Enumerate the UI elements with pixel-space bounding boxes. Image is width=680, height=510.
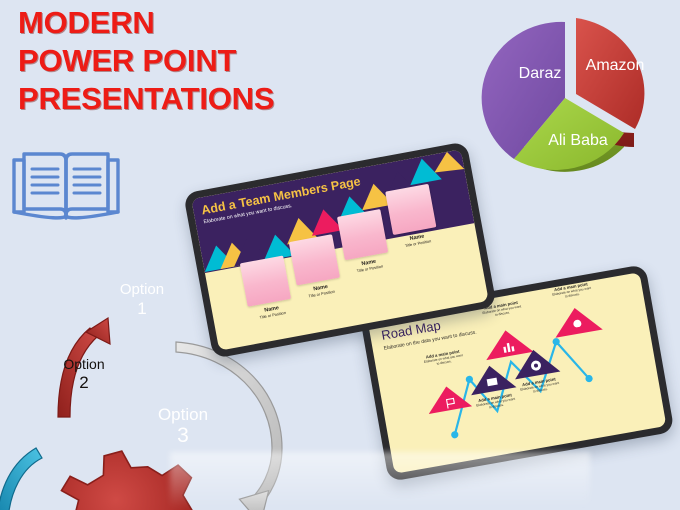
open-book-icon (10, 136, 122, 232)
pie-label-amazon: Amazon (586, 57, 645, 74)
member-photo-4[interactable] (385, 184, 436, 235)
member-photo-3[interactable] (337, 209, 388, 260)
red-curved-arrow (58, 318, 110, 417)
pie-label-aliBaba: Ali Baba (548, 132, 608, 149)
member-photo-1[interactable] (240, 255, 291, 306)
cyan-curved-arrow (0, 448, 42, 510)
pie-chart: Daraz Amazon Ali Baba (452, 2, 678, 192)
title-line-3: PRESENTATIONS (18, 80, 368, 118)
title-line-1: MODERN (18, 4, 368, 42)
member-photo-2[interactable] (289, 234, 340, 285)
title-line-2: POWER POINT (18, 42, 368, 80)
poster-canvas: MODERN POWER POINT PRESENTATIONS (0, 0, 680, 510)
road-map-marker-5[interactable] (551, 304, 603, 338)
road-map-dot-start (451, 431, 459, 439)
page-title: MODERN POWER POINT PRESENTATIONS (18, 4, 368, 117)
pie-label-daraz: Daraz (519, 65, 562, 82)
gear-option-1[interactable] (26, 437, 229, 510)
road-map-marker-3[interactable] (482, 326, 534, 360)
gray-curved-arrow (176, 342, 282, 510)
